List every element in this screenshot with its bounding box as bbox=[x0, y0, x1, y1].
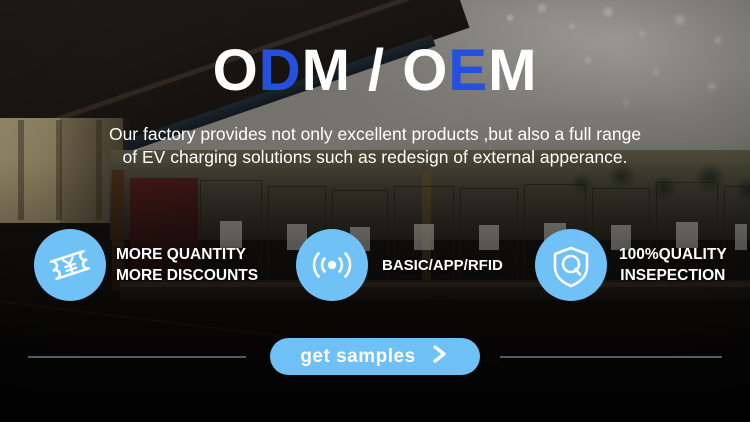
feature-label-line-2: MORE DISCOUNTS bbox=[116, 265, 258, 286]
promo-banner: ODM / OEM Our factory provides not only … bbox=[0, 0, 750, 422]
get-samples-label: get samples bbox=[300, 346, 415, 368]
feature-more-quantity: MORE QUANTITY MORE DISCOUNTS bbox=[34, 228, 258, 302]
shield-quality-icon bbox=[535, 229, 607, 301]
subtitle-line-2: of EV charging solutions such as redesig… bbox=[40, 146, 710, 169]
rfid-signal-icon bbox=[296, 229, 368, 301]
feature-label-line-1: 100%QUALITY bbox=[619, 244, 727, 265]
headline-segment: M / O bbox=[302, 38, 449, 103]
headline: ODM / OEM bbox=[0, 42, 750, 100]
ticket-yen-icon bbox=[34, 229, 106, 301]
divider-right bbox=[500, 356, 722, 358]
banner-content: ODM / OEM Our factory provides not only … bbox=[0, 0, 750, 422]
chevron-right-icon bbox=[430, 343, 450, 370]
feature-label-line-2: INSEPECTION bbox=[619, 265, 727, 286]
subtitle: Our factory provides not only excellent … bbox=[40, 123, 710, 169]
headline-segment: O bbox=[213, 38, 259, 103]
feature-label: BASIC/APP/RFID bbox=[382, 255, 503, 276]
feature-label: 100%QUALITY INSEPECTION bbox=[619, 244, 727, 286]
headline-segment-accent: E bbox=[448, 38, 488, 103]
subtitle-line-1: Our factory provides not only excellent … bbox=[40, 123, 710, 146]
get-samples-button[interactable]: get samples bbox=[270, 338, 480, 375]
headline-segment: M bbox=[488, 38, 537, 103]
feature-basic-app-rfid: BASIC/APP/RFID bbox=[296, 228, 503, 302]
feature-label-line-1: BASIC/APP/RFID bbox=[382, 255, 503, 276]
feature-list: MORE QUANTITY MORE DISCOUNTS bbox=[0, 228, 750, 302]
divider-left bbox=[28, 356, 246, 358]
headline-segment-accent: D bbox=[259, 38, 302, 103]
feature-label: MORE QUANTITY MORE DISCOUNTS bbox=[116, 244, 258, 286]
feature-label-line-1: MORE QUANTITY bbox=[116, 244, 258, 265]
feature-quality-inspection: 100%QUALITY INSEPECTION bbox=[535, 228, 727, 302]
